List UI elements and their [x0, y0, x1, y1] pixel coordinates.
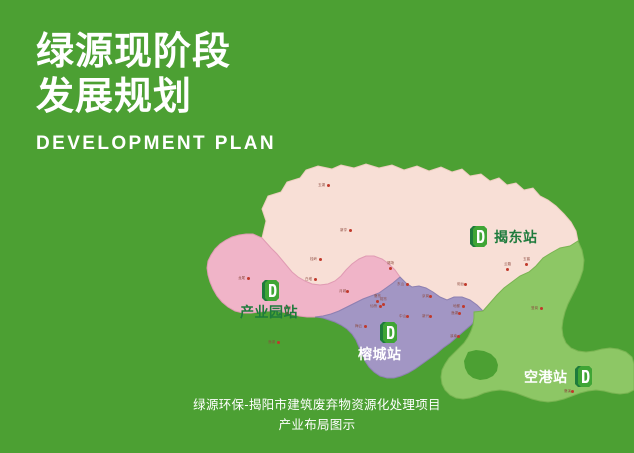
station-label-chanyeyuan: 产业园站: [240, 302, 298, 322]
station-label-konggang: 空港站: [524, 367, 568, 387]
station-marker-jiedong[interactable]: 揭东站: [470, 226, 538, 247]
station-marker-chanyeyuan[interactable]: 产业园站: [240, 280, 298, 322]
poster-canvas: 玉湖新亨锡场桂岭白塔龙尾月城霖磐磐东云路玉窖炮台登岗地都渔湖梅云中山新兴榕东仙桥…: [0, 0, 634, 453]
station-marker-rongcheng[interactable]: 榕城站: [358, 322, 402, 364]
station-marker-konggang[interactable]: 空港站: [524, 366, 592, 387]
station-logo-rongcheng: [380, 322, 397, 343]
station-logo-jiedong: [470, 226, 487, 247]
station-logo-chanyeyuan: [262, 280, 279, 301]
lvyuan-logo-icon: [380, 322, 397, 343]
lvyuan-logo-icon: [575, 366, 592, 387]
station-label-rongcheng: 榕城站: [358, 344, 402, 364]
station-logo-konggang: [575, 366, 592, 387]
station-label-jiedong: 揭东站: [494, 227, 538, 247]
lvyuan-logo-icon: [470, 226, 487, 247]
lvyuan-logo-icon: [262, 280, 279, 301]
